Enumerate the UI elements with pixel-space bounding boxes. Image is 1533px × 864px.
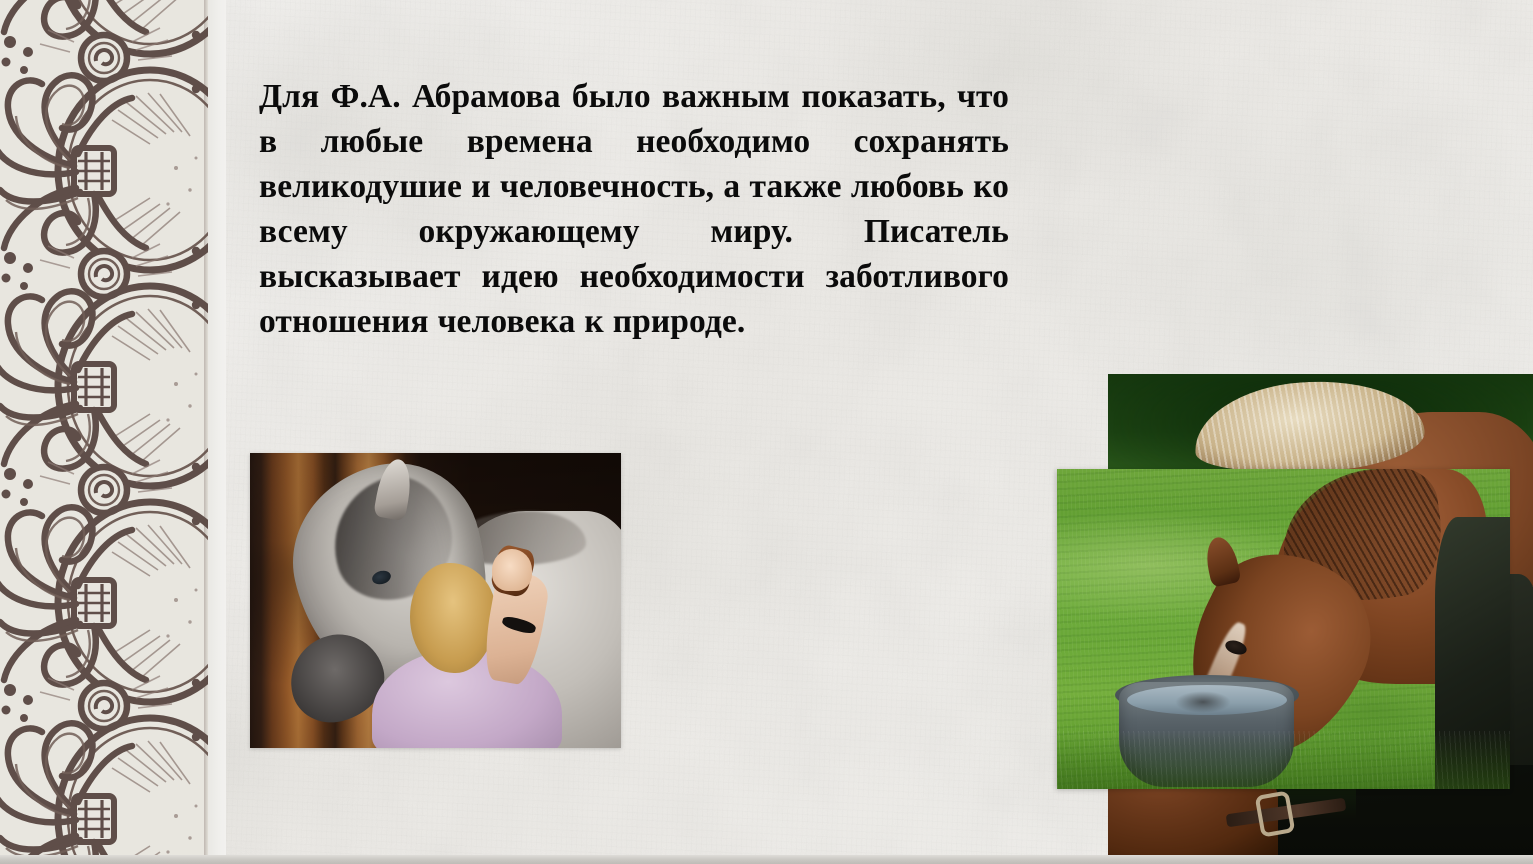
photo-horse-drinking-water xyxy=(1057,469,1510,789)
girl-hair-bun xyxy=(418,621,466,665)
slide-bottom-band xyxy=(0,855,1533,864)
photo-girl-brushing-horse-content xyxy=(250,453,621,748)
halter-buckle xyxy=(1255,790,1296,837)
presentation-slide: Для Ф.А. Абрамова было важным показать, … xyxy=(0,0,1533,864)
decorative-left-border xyxy=(0,0,208,864)
bucket-water-reflection xyxy=(1175,691,1231,713)
photo-horse-drinking-water-content xyxy=(1057,469,1510,789)
photo-girl-brushing-horse xyxy=(250,453,621,748)
ornament-pattern-icon xyxy=(0,0,208,864)
grass-foreground-blades xyxy=(1057,731,1510,789)
slide-body-text: Для Ф.А. Абрамова было важным показать, … xyxy=(259,74,1009,344)
ornament-gutter xyxy=(208,0,226,864)
girl-hand xyxy=(492,549,532,591)
